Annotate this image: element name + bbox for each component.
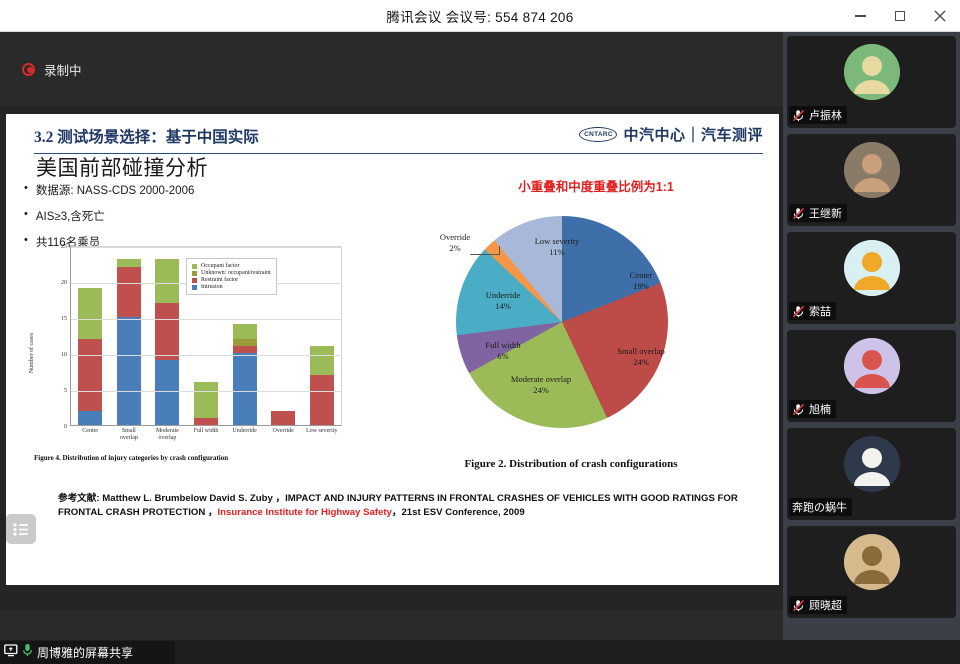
bar-stack	[155, 259, 179, 425]
slide-section-title: 3.2 测试场景选择：基于中国实际	[34, 125, 259, 147]
participant-tile[interactable]: 奔跑の蜗牛	[787, 428, 956, 520]
participant-name: 索喆	[809, 303, 831, 319]
x-axis-tick: Low severity	[299, 428, 345, 435]
legend-swatch	[192, 285, 197, 290]
bar-stack	[271, 411, 295, 425]
participant-rail[interactable]: 卢振林王继新索喆旭楠奔跑の蜗牛顾晓超	[783, 32, 960, 640]
participant-name-chip: 奔跑の蜗牛	[789, 498, 852, 516]
bar-segment	[155, 303, 179, 361]
participant-name: 奔跑の蜗牛	[792, 499, 847, 515]
slide-title: 美国前部碰撞分析	[36, 152, 208, 182]
microphone-muted-icon	[792, 599, 805, 612]
bar-segment	[155, 259, 179, 302]
bullet-dot-icon: •	[24, 182, 28, 198]
minimize-icon[interactable]	[840, 0, 880, 32]
y-axis-tick: 25	[61, 244, 67, 250]
bullet-dot-icon: •	[24, 234, 28, 250]
bar-stack	[310, 346, 334, 425]
pie-slice-label: Center 19%	[602, 270, 680, 291]
bullet-dot-icon: •	[24, 208, 28, 224]
pie-slice-label: Underride 14%	[464, 290, 542, 311]
avatar	[844, 44, 900, 100]
legend-swatch	[192, 264, 197, 269]
bar-chart-y-axis-label: Number of cases	[29, 333, 35, 373]
recording-indicator: 录制中	[22, 60, 82, 79]
maximize-icon[interactable]	[880, 0, 920, 32]
participant-name: 旭楠	[809, 401, 831, 417]
participant-name-chip: 卢振林	[789, 106, 847, 124]
shared-screen-stage: 录制中 3.2 测试场景选择：基于中国实际 CNTARC 中汽中心｜汽车测评 美…	[0, 32, 783, 610]
y-axis-tick: 5	[64, 388, 67, 394]
bar-segment	[117, 317, 141, 425]
bar-segment	[155, 360, 179, 425]
reference-highlight: Insurance Institute for Highway Safety	[218, 507, 392, 518]
legend-item: Unknown: occupant/restraint	[192, 270, 271, 276]
bar-segment	[233, 324, 257, 338]
legend-item: Intrusion	[192, 284, 271, 290]
bar-segment	[233, 339, 257, 346]
y-axis-tick: 15	[61, 316, 67, 322]
bar-segment	[271, 411, 295, 425]
screen-share-banner: 周博雅的屏幕共享	[0, 641, 175, 664]
bar-segment	[310, 375, 334, 425]
pie-slice-label: Override 2%	[416, 232, 494, 253]
grid-line	[71, 319, 341, 320]
microphone-muted-icon	[792, 305, 805, 318]
grid-line	[71, 391, 341, 392]
bar-chart-figure4: Number of cases CenterSmall overlapModer…	[34, 242, 346, 464]
record-dot-icon	[22, 63, 35, 76]
bar-segment	[78, 288, 102, 338]
avatar	[844, 534, 900, 590]
participant-name-chip: 王继新	[789, 204, 847, 222]
pie-slice-label: Low severity 11%	[518, 236, 596, 257]
bar-segment	[194, 382, 218, 418]
stage-bottom-area	[0, 610, 783, 640]
bar-segment	[310, 346, 334, 375]
legend-swatch	[192, 271, 197, 276]
bar-segment	[78, 411, 102, 425]
bar-segment	[117, 259, 141, 266]
close-icon[interactable]	[920, 0, 960, 32]
y-axis-tick: 0	[64, 424, 67, 430]
pie-slice-label: Full width 6%	[464, 340, 542, 361]
bar-segment	[233, 353, 257, 425]
bar-column: Moderate overlap	[148, 247, 187, 425]
participant-tile[interactable]: 王继新	[787, 134, 956, 226]
reference-suffix: ，21st ESV Conference, 2009	[392, 507, 525, 518]
y-axis-tick: 20	[61, 280, 67, 286]
slide-header: 3.2 测试场景选择：基于中国实际 CNTARC 中汽中心｜汽车测评	[34, 124, 763, 154]
participant-tile[interactable]: 索喆	[787, 232, 956, 324]
avatar	[844, 436, 900, 492]
bar-column: Small overlap	[110, 247, 149, 425]
avatar	[844, 142, 900, 198]
participant-name-chip: 旭楠	[789, 400, 836, 418]
y-axis-tick: 10	[61, 352, 67, 358]
window-title-bar: 腾讯会议 会议号: 554 874 206	[0, 0, 960, 32]
bar-chart-legend: Occupant factorUnknown: occupant/restrai…	[186, 258, 277, 295]
legend-swatch	[192, 278, 197, 283]
participant-name: 王继新	[809, 205, 842, 221]
participant-tile[interactable]: 卢振林	[787, 36, 956, 128]
participant-name-chip: 索喆	[789, 302, 836, 320]
participant-tile[interactable]: 顾晓超	[787, 526, 956, 618]
microphone-muted-icon	[792, 109, 805, 122]
legend-label: Restraint factor	[201, 277, 238, 283]
participant-name-chip: 顾晓超	[789, 596, 847, 614]
participant-list-toggle-icon[interactable]	[6, 514, 36, 544]
reference-prefix: 参考文献:	[58, 493, 100, 504]
company-logo: CNTARC 中汽中心｜汽车测评	[579, 124, 763, 145]
microphone-active-icon	[22, 643, 33, 662]
bar-chart-caption: Figure 4. Distribution of injury categor…	[34, 454, 346, 462]
participant-tile[interactable]: 旭楠	[787, 330, 956, 422]
legend-item: Restraint factor	[192, 277, 271, 283]
bar-segment	[78, 339, 102, 411]
microphone-muted-icon	[792, 403, 805, 416]
bar-stack	[78, 288, 102, 425]
participant-name: 顾晓超	[809, 597, 842, 613]
list-item: • AIS≥3,含死亡	[24, 208, 384, 224]
pie-slice-label: Small overlap 24%	[602, 346, 680, 367]
participant-name: 卢振林	[809, 107, 842, 123]
logo-oval-icon: CNTARC	[579, 127, 617, 142]
bar-segment	[233, 346, 257, 353]
pie-leader-line	[499, 246, 500, 255]
pie-leader-line	[470, 254, 500, 255]
avatar	[844, 338, 900, 394]
window-title: 腾讯会议 会议号: 554 874 206	[386, 6, 573, 26]
logo-text: 中汽中心｜汽车测评	[623, 124, 763, 145]
bar-segment	[117, 267, 141, 317]
screen-share-icon	[4, 644, 18, 662]
meeting-body: 录制中 3.2 测试场景选择：基于中国实际 CNTARC 中汽中心｜汽车测评 美…	[0, 32, 960, 640]
bar-stack	[117, 259, 141, 425]
legend-label: Unknown: occupant/restraint	[201, 270, 271, 276]
bar-stack	[194, 382, 218, 425]
pie-slice-label: Moderate overlap 24%	[502, 374, 580, 395]
legend-label: Occupant factor	[201, 263, 239, 269]
bar-segment	[194, 418, 218, 425]
bar-column: Low severity	[302, 247, 341, 425]
recording-label: 录制中	[44, 60, 82, 79]
legend-item: Occupant factor	[192, 263, 271, 269]
bullet-text: 数据源: NASS-CDS 2000-2006	[36, 182, 195, 198]
slide-reference: 参考文献: Matthew L. Brumbelow David S. Zuby…	[58, 492, 761, 520]
screen-share-label: 周博雅的屏幕共享	[37, 644, 133, 661]
slide-annotation: 小重叠和中度重叠比例为1:1	[466, 176, 726, 195]
window-controls	[840, 0, 960, 32]
avatar	[844, 240, 900, 296]
recording-bar: 录制中	[0, 32, 783, 106]
list-item: • 数据源: NASS-CDS 2000-2006	[24, 182, 384, 198]
bullet-text: AIS≥3,含死亡	[36, 208, 105, 224]
bar-stack	[233, 324, 257, 425]
legend-label: Intrusion	[201, 284, 223, 290]
presentation-slide: 3.2 测试场景选择：基于中国实际 CNTARC 中汽中心｜汽车测评 美国前部碰…	[6, 114, 779, 585]
pie-chart-figure2: Center 19%Small overlap 24%Moderate over…	[406, 206, 736, 474]
pie-chart-caption: Figure 2. Distribution of crash configur…	[406, 458, 736, 470]
grid-line	[71, 355, 341, 356]
grid-line	[71, 247, 341, 248]
microphone-muted-icon	[792, 207, 805, 220]
bar-column: Center	[71, 247, 110, 425]
